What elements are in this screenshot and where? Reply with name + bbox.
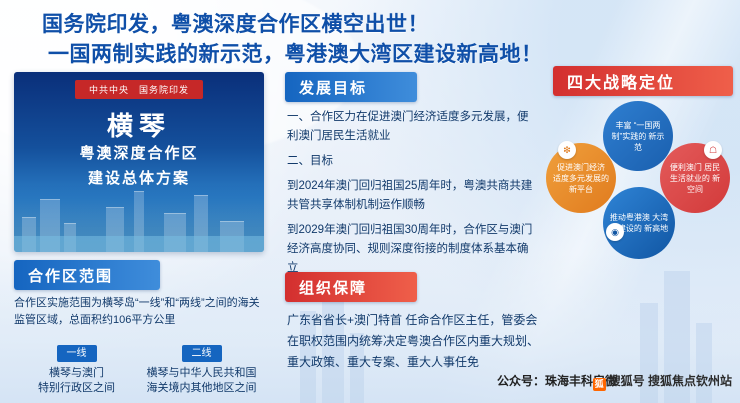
section-title-strategy: 四大战略定位 <box>553 66 733 96</box>
org-text-block: 广东省省长+澳门特首 任命合作区主任，管委会在职权范围内统筹决定粤澳合作区内重大… <box>287 310 542 373</box>
range-first-line2: 特别行政区之间 <box>14 381 139 396</box>
goal-paragraph-3: 到2024年澳门回归祖国25周年时，粤澳共商共建共管共享体制机制运作顺畅 <box>287 177 537 215</box>
background-tower <box>696 323 712 403</box>
range-second-line2: 海关境内其他地区之间 <box>139 381 264 396</box>
range-description-box: 合作区实施范围为横琴岛“一线”和“两线”之间的海关监管区域，总面积约106平方公… <box>14 295 264 329</box>
range-first-line1: 横琴与澳门 <box>14 366 139 381</box>
org-paragraph: 广东省省长+澳门特首 任命合作区主任，管委会在职权范围内统筹决定粤澳合作区内重大… <box>287 310 542 373</box>
range-description: 合作区实施范围为横琴岛“一线”和“两线”之间的海关监管区域，总面积约106平方公… <box>14 295 264 329</box>
strategy-node-right-label: 便利澳门 居民生活就业的 新空间 <box>666 162 724 195</box>
range-columns: 一线 横琴与澳门 特别行政区之间 二线 横琴与中华人民共和国 海关境内其他地区之… <box>14 345 264 396</box>
watermark-brand: 狐搜狐号 搜狐焦点钦州站 <box>593 372 732 391</box>
strategy-node-top-label: 丰富 “一国两制”实践的 新示范 <box>609 120 667 153</box>
leaf-icon: ❇ <box>558 141 576 159</box>
plan-poster: 中共中央 国务院印发 横琴 粤澳深度合作区 建设总体方案 <box>14 72 264 252</box>
goal-text-block: 一、合作区力在促进澳门经济适度多元发展，便利澳门居民生活就业 二、目标 到202… <box>287 108 537 284</box>
goal-paragraph-4: 到2029年澳门回归祖国30周年时，合作区与澳门经济高度协同、规则深度衔接的制度… <box>287 221 537 278</box>
headline-line-1: 国务院印发，粤澳深度合作区横空出世！ <box>42 10 712 40</box>
globe-icon: ◉ <box>606 223 624 241</box>
strategy-diagram: 推动粤港澳 大湾区建设的 新高地 促进澳门经济 适度多元发展的 新平台 便利澳门… <box>548 105 733 275</box>
poster-title-2: 粤澳深度合作区 <box>14 142 264 163</box>
house-icon: ☖ <box>704 141 722 159</box>
range-column-first: 一线 横琴与澳门 特别行政区之间 <box>14 345 139 396</box>
strategy-node-left-label: 促进澳门经济 适度多元发展的 新平台 <box>552 162 610 195</box>
section-title-range: 合作区范围 <box>14 260 160 290</box>
poster-skyline <box>14 184 264 252</box>
range-tag-first: 一线 <box>57 345 97 362</box>
strategy-node-left: 促进澳门经济 适度多元发展的 新平台 <box>546 143 616 213</box>
sohu-logo-icon: 狐 <box>593 378 606 391</box>
strategy-node-top: 丰富 “一国两制”实践的 新示范 <box>603 101 673 171</box>
range-tag-second: 二线 <box>182 345 222 362</box>
headline: 国务院印发，粤澳深度合作区横空出世！ 一国两制实践的新示范，粤港澳大湾区建设新高… <box>42 10 712 70</box>
goal-paragraph-2: 二、目标 <box>287 152 537 171</box>
poster-water <box>14 236 264 252</box>
range-column-second: 二线 横琴与中华人民共和国 海关境内其他地区之间 <box>139 345 264 396</box>
section-title-goal: 发展目标 <box>285 72 417 102</box>
goal-paragraph-1: 一、合作区力在促进澳门经济适度多元发展，便利澳门居民生活就业 <box>287 108 537 146</box>
poster-banner: 中共中央 国务院印发 <box>75 80 203 99</box>
watermark-brand-text: 搜狐号 搜狐焦点钦州站 <box>609 374 732 388</box>
poster-title-1: 横琴 <box>14 106 264 143</box>
section-title-org: 组织保障 <box>285 272 417 302</box>
range-second-line1: 横琴与中华人民共和国 <box>139 366 264 381</box>
poster-title-3: 建设总体方案 <box>14 167 264 188</box>
page-root: 国务院印发，粤澳深度合作区横空出世！ 一国两制实践的新示范，粤港澳大湾区建设新高… <box>0 0 740 403</box>
